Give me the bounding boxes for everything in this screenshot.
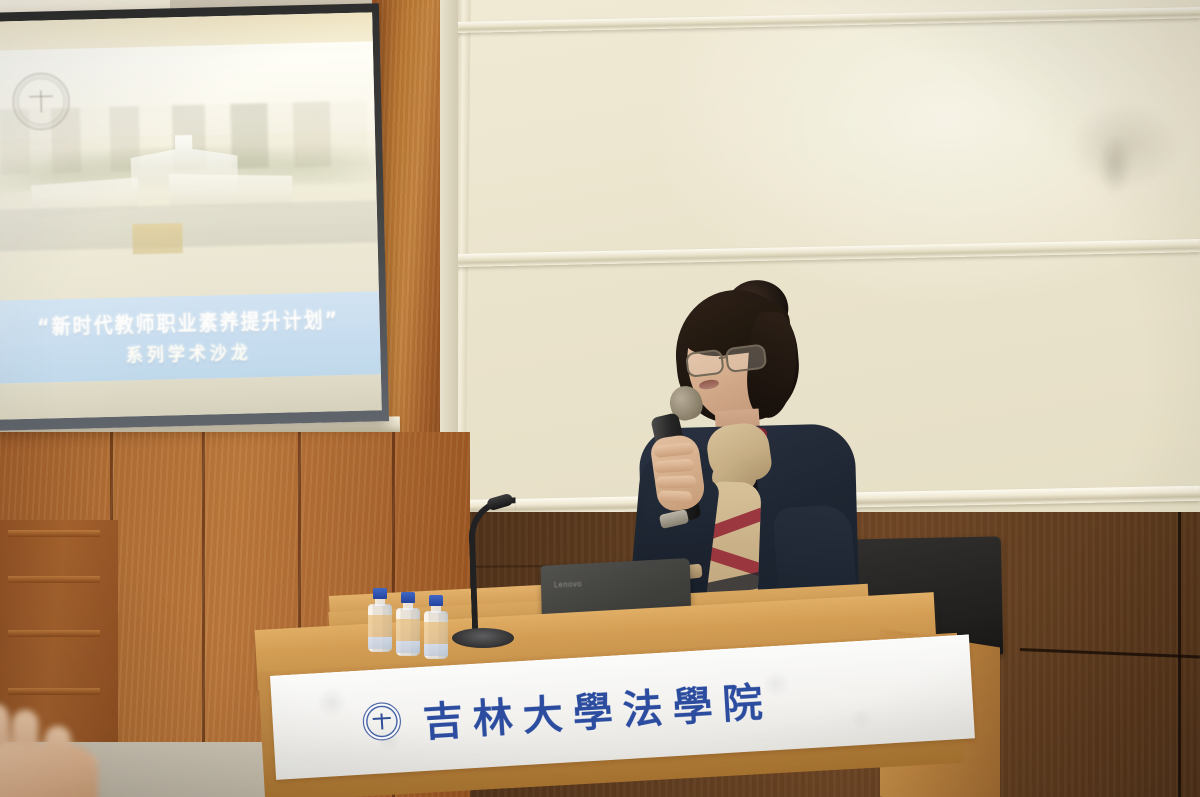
- projection-screen: “新时代教师职业素养提升计划” 系列学术沙龙: [0, 3, 389, 431]
- wall-gap-strip: [440, 0, 458, 442]
- slide-gate: [132, 223, 182, 254]
- bottle-label-lower: [368, 637, 392, 649]
- laptop-brand-label: Lenovo: [554, 579, 582, 589]
- gooseneck-microphone-base: [452, 628, 514, 648]
- scales-of-justice-icon: [372, 712, 391, 731]
- bottle-label: [396, 619, 420, 641]
- bottle-label: [368, 615, 392, 637]
- eyeglass-lens-right: [725, 343, 768, 373]
- molding-2: [8, 576, 100, 583]
- whiteboard-smudge-secondary: [1095, 130, 1135, 200]
- lecture-photo-scene: “新时代教师职业素养提升计划” 系列学术沙龙: [0, 0, 1200, 797]
- bottle-label-lower: [424, 644, 448, 656]
- slide-background-photo: [0, 12, 379, 316]
- molding-3: [8, 630, 100, 637]
- slide-title-sub: 系列学术沙龙: [126, 338, 253, 368]
- bottle-neck: [375, 598, 385, 606]
- finger-3: [656, 475, 696, 488]
- gooseneck-microphone-arm: [468, 497, 521, 641]
- blurred-hand: [0, 700, 122, 797]
- eyeglass-lens-left: [685, 349, 725, 378]
- bottle-cap: [429, 595, 443, 606]
- bottle-label-lower: [396, 641, 420, 653]
- water-bottle-1: [367, 588, 393, 652]
- blurred-palm: [0, 744, 98, 797]
- water-bottle-3: [423, 595, 449, 659]
- bottle-neck: [403, 602, 413, 610]
- bottle-label: [424, 622, 448, 644]
- bottle-cap: [373, 588, 387, 599]
- water-bottle-2: [395, 592, 421, 656]
- projection-screen-surface: “新时代教师职业素养提升计划” 系列学术沙龙: [0, 12, 382, 419]
- molding-1: [8, 530, 100, 537]
- bottle-neck: [431, 605, 441, 613]
- slide-title-band: “新时代教师职业素养提升计划” 系列学术沙龙: [0, 291, 381, 384]
- slide-plaza: [0, 201, 378, 252]
- molding-4: [8, 688, 100, 695]
- slide-title-main: “新时代教师职业素养提升计划”: [37, 304, 340, 341]
- bottle-cap: [401, 592, 415, 603]
- scales-of-justice-icon: [28, 88, 55, 115]
- finger-4: [658, 490, 692, 503]
